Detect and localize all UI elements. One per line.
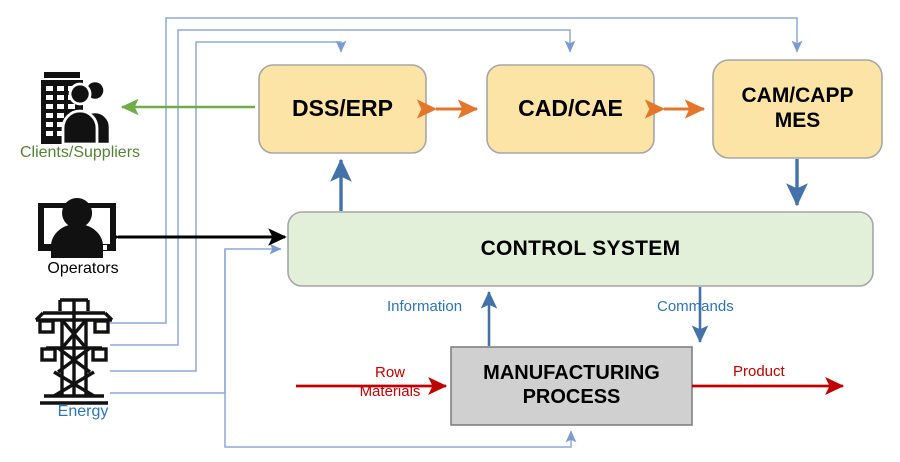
monitor-person-icon <box>38 198 116 258</box>
cad-cae-box[interactable] <box>487 65 654 153</box>
manufacturing-process-box[interactable] <box>451 347 692 425</box>
system-architecture-diagram <box>0 0 900 462</box>
cam-capp-mes-box[interactable] <box>713 60 882 158</box>
dss-erp-box[interactable] <box>259 65 426 153</box>
building-people-icon <box>41 72 110 144</box>
control-system-box[interactable] <box>288 212 873 286</box>
power-pylon-icon <box>36 300 112 403</box>
